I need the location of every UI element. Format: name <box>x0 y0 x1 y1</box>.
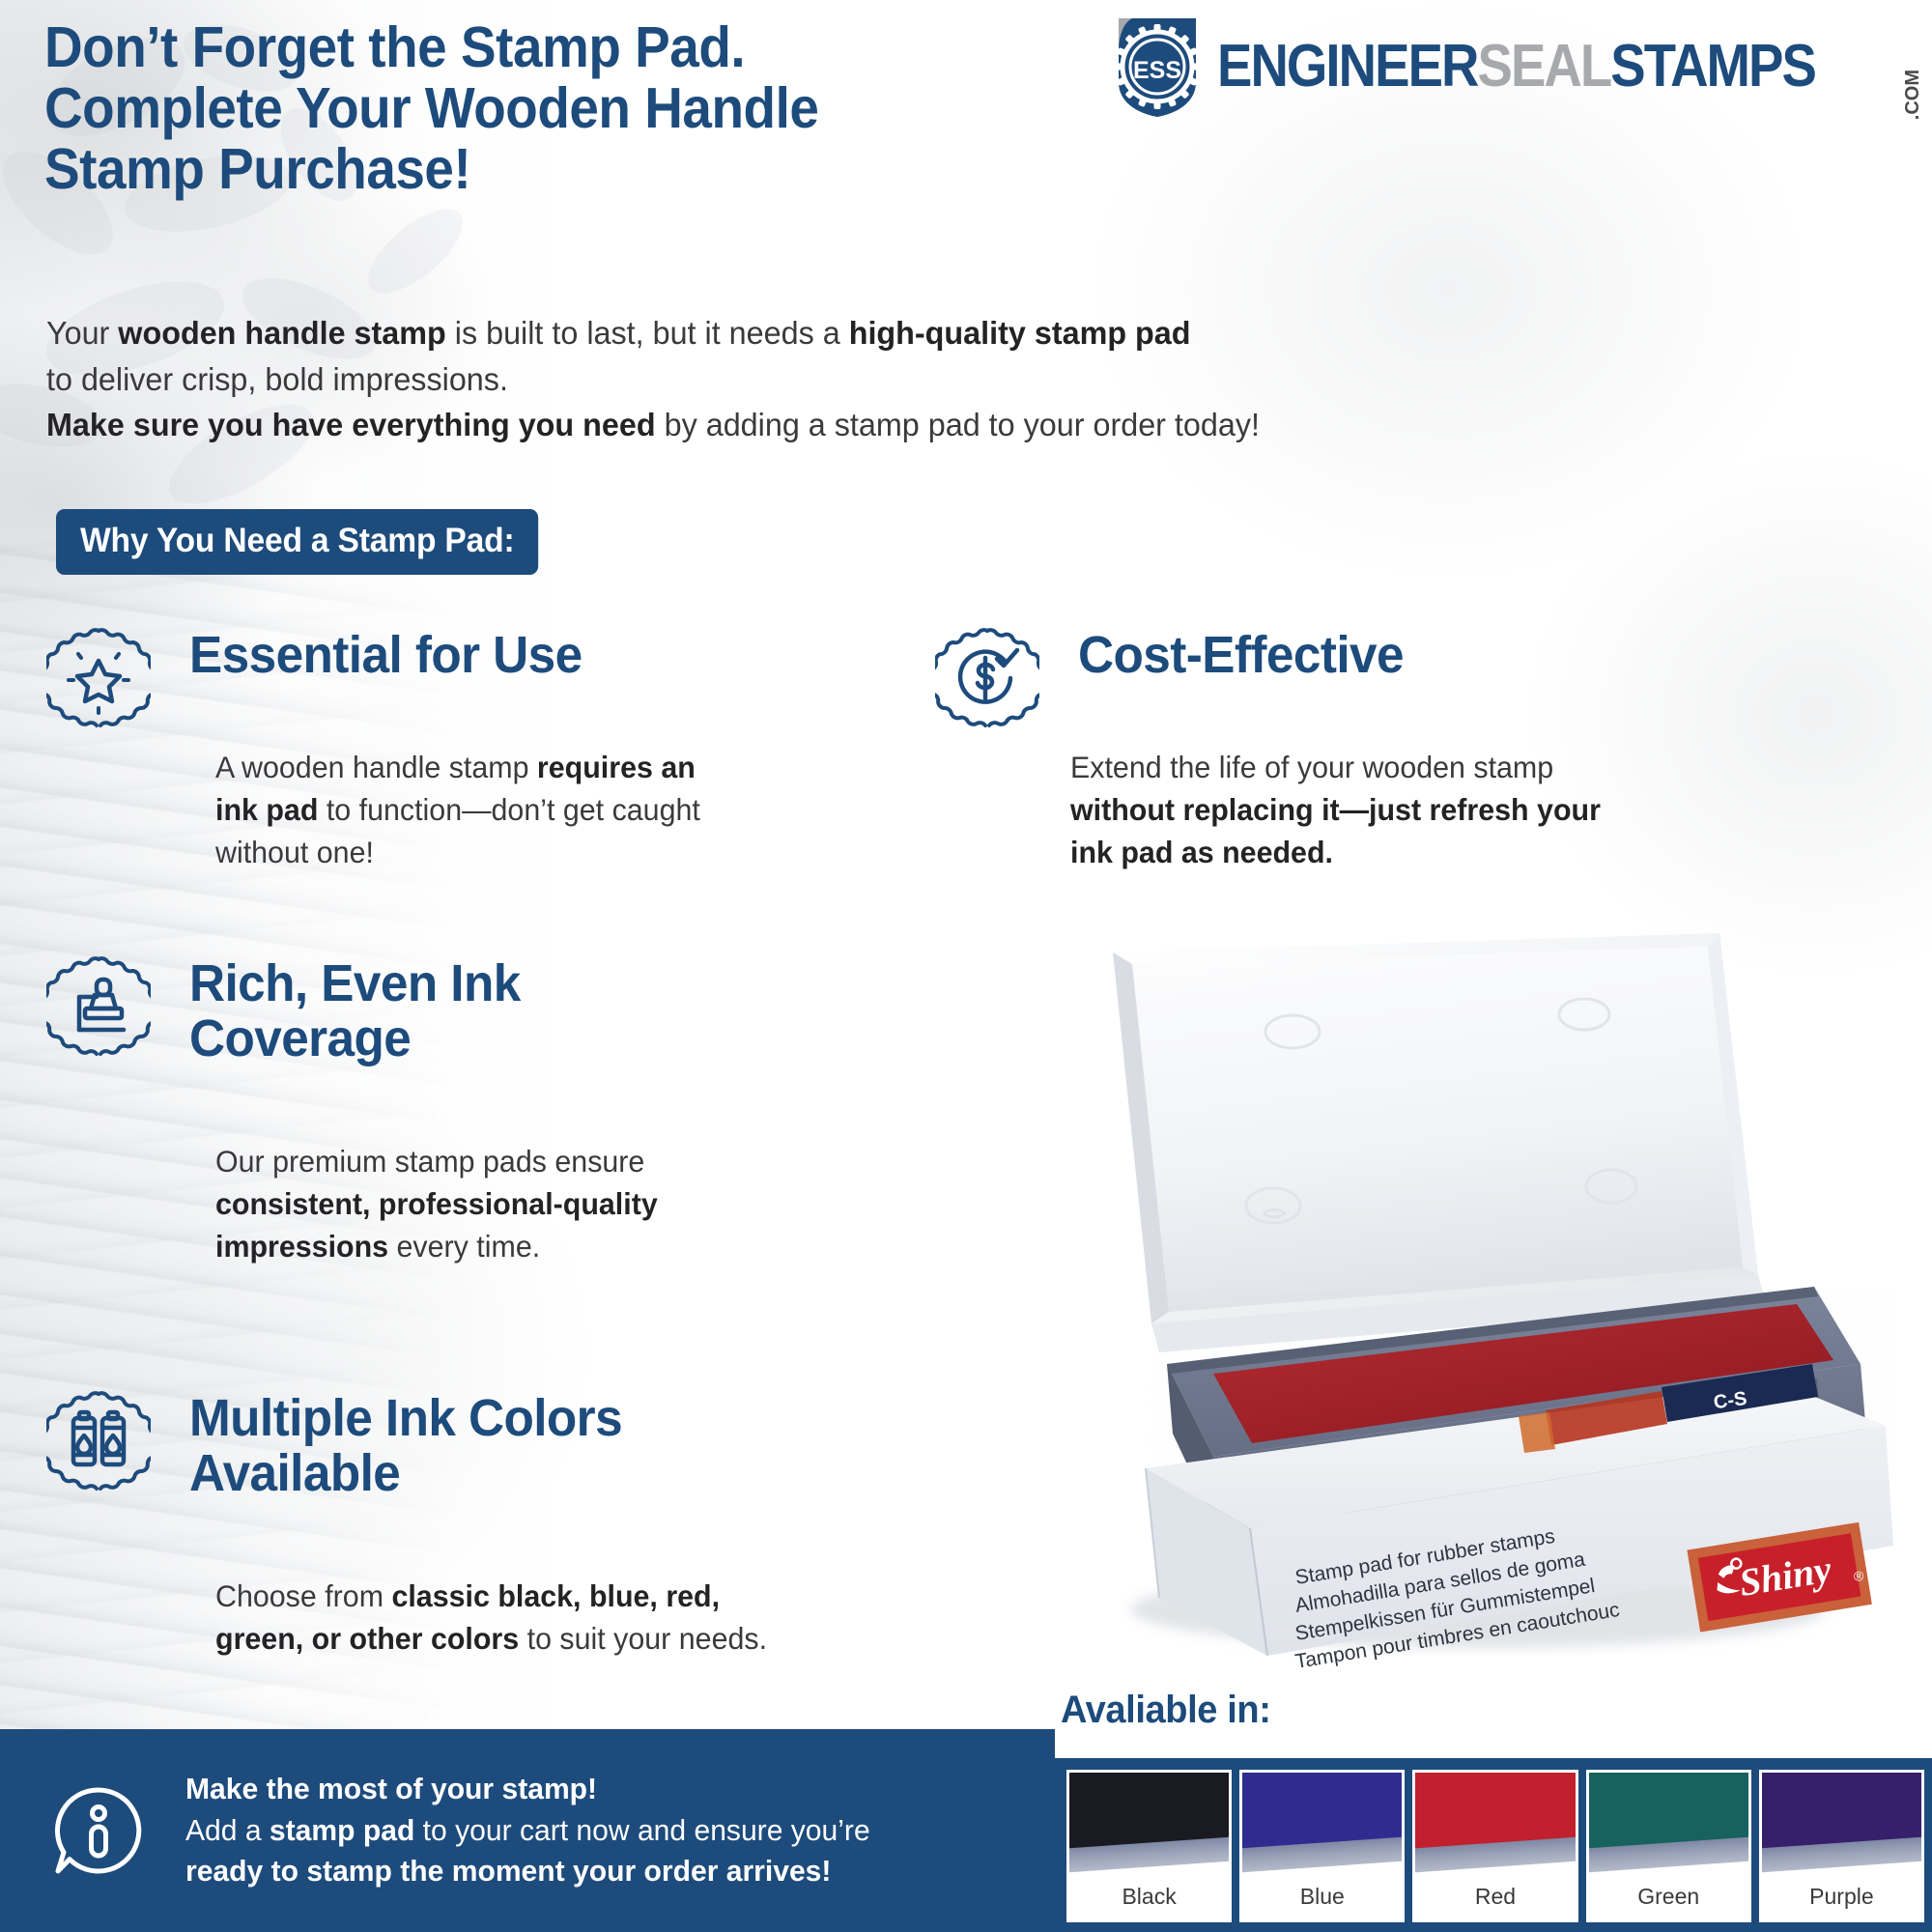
f0-t2: requires an <box>537 750 696 784</box>
swatch-label: Black <box>1069 1873 1229 1919</box>
f0-t3: ink pad <box>215 792 318 827</box>
f3-t4: to suit your needs. <box>519 1621 767 1656</box>
feature-title-line-2: Available <box>189 1446 622 1501</box>
feature-title: Essential for Use <box>189 628 582 683</box>
feature-body-line-1: Our premium stamp pads ensure <box>215 1140 658 1182</box>
feature-title-line-2: Coverage <box>189 1011 521 1066</box>
product-photo-stamp-pad: C-S Stamp pad for rubber stamps Almohadi… <box>1043 927 1913 1700</box>
feature-body-line-3: impressions every time. <box>215 1225 658 1267</box>
feature-title: Cost-Effective <box>1078 628 1404 683</box>
f3-t3: green, or other colors <box>215 1621 519 1656</box>
stamp-pad-lid <box>1113 933 1766 1352</box>
feature-body: A wooden handle stamp requires an ink pa… <box>215 746 700 873</box>
intro-line-2: to deliver crisp, bold impressions. <box>46 357 1370 404</box>
f3-t1: Choose from <box>215 1578 391 1613</box>
feature-title: Multiple Ink Colors Available <box>189 1391 622 1501</box>
feature-body: Choose from classic black, blue, red, gr… <box>215 1575 767 1660</box>
feature-body-line-1: Choose from classic black, blue, red, <box>215 1575 767 1617</box>
footer-cta-band: Make the most of your stamp! Add a stamp… <box>0 1729 1055 1932</box>
ft-t5: ready to stamp the moment your order arr… <box>185 1854 831 1888</box>
feature-body-line-2: consistent, professional-quality <box>215 1182 658 1225</box>
intro-paragraph: Your wooden handle stamp is built to las… <box>46 311 1370 449</box>
intro-t5: Make sure you have everything you need <box>46 408 656 443</box>
f2-t3: every time. <box>388 1229 540 1264</box>
ft-t3: stamp pad <box>270 1813 414 1847</box>
swatch-label: Red <box>1415 1873 1575 1919</box>
swatch-blue[interactable]: Blue <box>1239 1770 1405 1922</box>
swatch-image <box>1762 1773 1921 1873</box>
logo-wordmark: ENGINEERSEALSTAMPS <box>1217 37 1815 97</box>
swatch-image <box>1242 1773 1402 1873</box>
headline-line-1: Don’t Forget the Stamp Pad. <box>44 17 943 78</box>
swatch-label: Purple <box>1762 1873 1921 1919</box>
feature-body-line-2: green, or other colors to suit your need… <box>215 1617 767 1660</box>
swatch-purple[interactable]: Purple <box>1759 1770 1924 1922</box>
intro-line-3: Make sure you have everything you need b… <box>46 403 1370 449</box>
footer-line-1: Make the most of your stamp! <box>185 1769 870 1810</box>
intro-line-1: Your wooden handle stamp is built to las… <box>46 311 1370 357</box>
feature-body-line-3: without one! <box>215 831 700 873</box>
feature-title: Rich, Even Ink Coverage <box>189 956 521 1066</box>
logo-tld: .COM <box>1902 68 1924 120</box>
footer-line-2: Add a stamp pad to your cart now and ens… <box>185 1810 870 1852</box>
intro-t4: high-quality stamp pad <box>849 316 1191 352</box>
f1-t2: ink pad as needed. <box>1070 835 1333 869</box>
feature-body-line-2: without replacing it—just refresh your <box>1070 788 1601 831</box>
ft-t2: Add a <box>185 1813 270 1847</box>
ft-t1: Make the most of your stamp! <box>185 1772 597 1805</box>
brand-logo[interactable]: ESS ENGINEERSEALSTAMPS .COM <box>1103 14 1924 120</box>
intro-t2: wooden handle stamp <box>118 316 445 352</box>
swatch-image <box>1589 1773 1748 1873</box>
feature-body-line-2: ink pad to function—don’t get caught <box>215 788 700 831</box>
ft-t4: to your cart now and ensure you’re <box>414 1813 869 1847</box>
f3-t2: classic black, blue, red, <box>391 1578 720 1613</box>
rubber-stamp-badge-icon <box>46 954 151 1059</box>
intro-t3: is built to last, but it needs a <box>446 316 849 352</box>
swatch-green[interactable]: Green <box>1586 1770 1751 1922</box>
f0-t1: A wooden handle stamp <box>215 750 537 784</box>
color-swatch-panel: Black Blue Red Green <box>1055 1758 1932 1932</box>
headline-line-2: Complete Your Wooden Handle <box>44 78 943 139</box>
swatch-label: Green <box>1589 1873 1748 1919</box>
f0-t4: to function—don’t get caught <box>318 792 699 827</box>
swatch-label: Blue <box>1242 1873 1402 1919</box>
swatch-black[interactable]: Black <box>1066 1770 1232 1922</box>
intro-t6: by adding a stamp pad to your order toda… <box>656 408 1260 443</box>
footer-line-3: ready to stamp the moment your order arr… <box>185 1851 870 1892</box>
feature-body-line-1: Extend the life of your wooden stamp <box>1070 746 1601 788</box>
swatch-red[interactable]: Red <box>1412 1770 1577 1922</box>
f2-t1: consistent, professional-quality <box>215 1186 658 1221</box>
header: Don’t Forget the Stamp Pad. Complete You… <box>0 0 1932 222</box>
page-title: Don’t Forget the Stamp Pad. Complete You… <box>44 17 943 200</box>
available-in-label: Avaliable in: <box>1061 1689 1271 1732</box>
feature-title-line-1: Multiple Ink Colors <box>189 1391 622 1446</box>
feature-body-line-3: ink pad as needed. <box>1070 831 1601 873</box>
info-bubble-icon <box>46 1778 151 1883</box>
ess-monogram: ESS <box>1133 57 1181 84</box>
star-badge-icon <box>46 626 151 730</box>
intro-t1: Your <box>46 316 118 352</box>
logo-word-engineer: ENGINEER <box>1217 37 1478 97</box>
dollar-check-badge-icon <box>935 626 1039 730</box>
footer-text: Make the most of your stamp! Add a stamp… <box>185 1769 870 1892</box>
logo-word-stamps: STAMPS <box>1610 37 1815 97</box>
swatch-image <box>1069 1773 1229 1873</box>
headline-line-3: Stamp Purchase! <box>44 139 943 200</box>
logo-word-seal: SEAL <box>1477 37 1610 97</box>
feature-body: Our premium stamp pads ensure consistent… <box>215 1140 658 1267</box>
swatch-image <box>1415 1773 1575 1873</box>
f1-t1: without replacing it—just refresh your <box>1070 792 1601 827</box>
f2-t2: impressions <box>215 1229 388 1264</box>
why-banner: Why You Need a Stamp Pad: <box>56 509 538 575</box>
ess-shield-gear-icon: ESS <box>1103 13 1211 121</box>
feature-title-line-1: Rich, Even Ink <box>189 956 521 1011</box>
ink-bottles-badge-icon <box>46 1389 151 1493</box>
feature-body-line-1: A wooden handle stamp requires an <box>215 746 700 788</box>
feature-body: Extend the life of your wooden stamp wit… <box>1070 746 1601 873</box>
